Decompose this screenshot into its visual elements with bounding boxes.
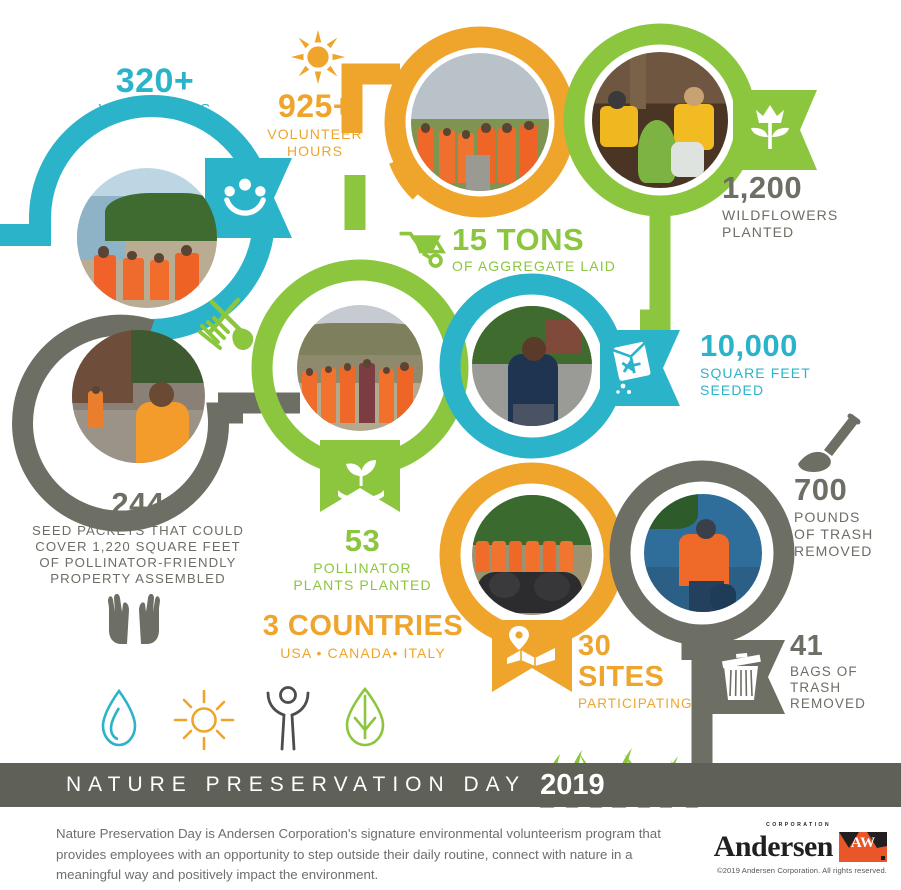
- flower-icon: [746, 103, 794, 153]
- stat-hours-number: 925+: [245, 90, 385, 122]
- stat-aggregate-number: 15 TONS: [452, 224, 712, 255]
- stat-seed-packets-number: 244: [8, 488, 268, 519]
- stat-seeded-number: 10,000: [700, 330, 900, 361]
- stat-sites: 30 SITES PARTICIPATING: [578, 632, 708, 712]
- banner-title: NATURE PRESERVATION DAY: [66, 773, 526, 797]
- stat-trash-pounds-number: 700: [794, 474, 901, 505]
- photo-planting-shrub: [592, 52, 728, 188]
- people-group-icon: [222, 176, 268, 222]
- stat-pollinator-number: 53: [280, 525, 445, 556]
- copyright-text: ©2019 Andersen Corporation. All rights r…: [714, 866, 887, 875]
- leaf-drop-icon: [340, 686, 390, 750]
- stat-countries-label: USA • CANADA• ITALY: [238, 645, 488, 662]
- wheelbarrow-icon: [396, 228, 450, 268]
- stat-seed-packets-label-3: OF POLLINATOR-FRIENDLY: [8, 555, 268, 571]
- stat-sites-label: PARTICIPATING: [578, 696, 708, 712]
- photo-man-collecting-trash: [644, 494, 762, 612]
- photo-team-group: [297, 305, 423, 431]
- stat-bags-of-trash: 41 BAGS OF TRASH REMOVED: [790, 632, 901, 713]
- stat-sites-number-1: 30: [578, 632, 708, 661]
- stat-bags-label-3: REMOVED: [790, 696, 901, 712]
- stat-volunteers-label: VOLUNTEERS: [60, 101, 250, 119]
- seed-packet-icon: [610, 340, 658, 396]
- stat-hours-label-2: HOURS: [245, 143, 385, 160]
- hand-plant-icon: [334, 456, 388, 504]
- stat-pollinator-plants: 53 POLLINATOR PLANTS PLANTED: [280, 525, 445, 594]
- infographic-canvas: 320+ VOLUNTEERS 925+ VOLUNTEER HOURS 15 …: [0, 0, 901, 890]
- stat-bags-label-2: TRASH: [790, 680, 901, 696]
- stat-seeded-label-1: SQUARE FEET: [700, 365, 900, 382]
- bottom-banner: NATURE PRESERVATION DAY 2019: [0, 763, 901, 807]
- andersen-word-text: Andersen: [714, 830, 833, 863]
- photo-group-monument: [411, 53, 549, 191]
- andersen-logo: Andersen CORPORATION AW ©2019 Andersen C…: [714, 832, 887, 875]
- stat-trash-pounds-label-3: REMOVED: [794, 543, 901, 560]
- photo-volunteers-trail: [77, 168, 217, 308]
- stat-countries: 3 COUNTRIES USA • CANADA• ITALY: [238, 612, 488, 662]
- stat-seed-packets-label-4: PROPERTY ASSEMBLED: [8, 571, 268, 587]
- stat-wildflowers: 1,200 WILDFLOWERS PLANTED: [722, 172, 901, 241]
- banner-year: 2019: [540, 769, 605, 802]
- stat-hours-label-1: VOLUNTEER: [245, 126, 385, 143]
- stat-aggregate: 15 TONS OF AGGREGATE LAID: [452, 224, 712, 275]
- sun-icon: [289, 28, 347, 86]
- stat-seed-packets-label-2: COVER 1,220 SQUARE FEET: [8, 539, 268, 555]
- broom-icon: [796, 412, 864, 476]
- gloves-icon: [103, 590, 165, 648]
- stat-volunteers: 320+ VOLUNTEERS: [60, 64, 250, 119]
- stat-trash-pounds: 700 POUNDS OF TRASH REMOVED: [794, 474, 901, 559]
- stat-wildflowers-number: 1,200: [722, 172, 901, 203]
- stat-sites-number-2: SITES: [578, 663, 708, 692]
- stat-bags-number: 41: [790, 632, 901, 661]
- photo-trash-bags-group: [472, 495, 592, 615]
- rake-shovel-icon: [198, 296, 264, 358]
- person-outline-icon: [262, 685, 314, 751]
- water-drop-icon: [97, 688, 141, 750]
- stat-trash-pounds-label-2: OF TRASH: [794, 526, 901, 543]
- stat-wildflowers-label-1: WILDFLOWERS: [722, 207, 901, 224]
- aw-letters: AW: [851, 835, 875, 851]
- stat-wildflowers-label-2: PLANTED: [722, 224, 901, 241]
- map-pin-icon: [505, 624, 559, 666]
- sun-outline-icon: [172, 690, 236, 750]
- stat-aggregate-label: OF AGGREGATE LAID: [452, 258, 712, 275]
- stat-volunteer-hours: 925+ VOLUNTEER HOURS: [245, 90, 385, 160]
- photo-woman-navy-shirt: [472, 306, 592, 426]
- trash-can-icon: [716, 650, 766, 702]
- stat-pollinator-label-2: PLANTS PLANTED: [280, 577, 445, 594]
- stat-seeded-label-2: SEEDED: [700, 382, 900, 399]
- aw-logo-mark: AW: [839, 832, 887, 862]
- andersen-wordmark: Andersen CORPORATION: [714, 832, 833, 862]
- footer-paragraph: Nature Preservation Day is Andersen Corp…: [56, 824, 676, 886]
- stat-seed-packets-label-1: SEED PACKETS THAT COULD: [8, 523, 268, 539]
- andersen-corporation-superscript: CORPORATION: [766, 823, 831, 828]
- stat-volunteers-number: 320+: [60, 64, 250, 98]
- stat-countries-number: 3 COUNTRIES: [238, 612, 488, 641]
- stat-pollinator-label-1: POLLINATOR: [280, 560, 445, 577]
- stat-seed-packets: 244 SEED PACKETS THAT COULD COVER 1,220 …: [8, 488, 268, 586]
- photo-woman-bridge: [72, 330, 205, 463]
- stat-square-feet-seeded: 10,000 SQUARE FEET SEEDED: [700, 330, 900, 399]
- stat-bags-label-1: BAGS OF: [790, 664, 901, 680]
- stat-trash-pounds-label-1: POUNDS: [794, 509, 901, 526]
